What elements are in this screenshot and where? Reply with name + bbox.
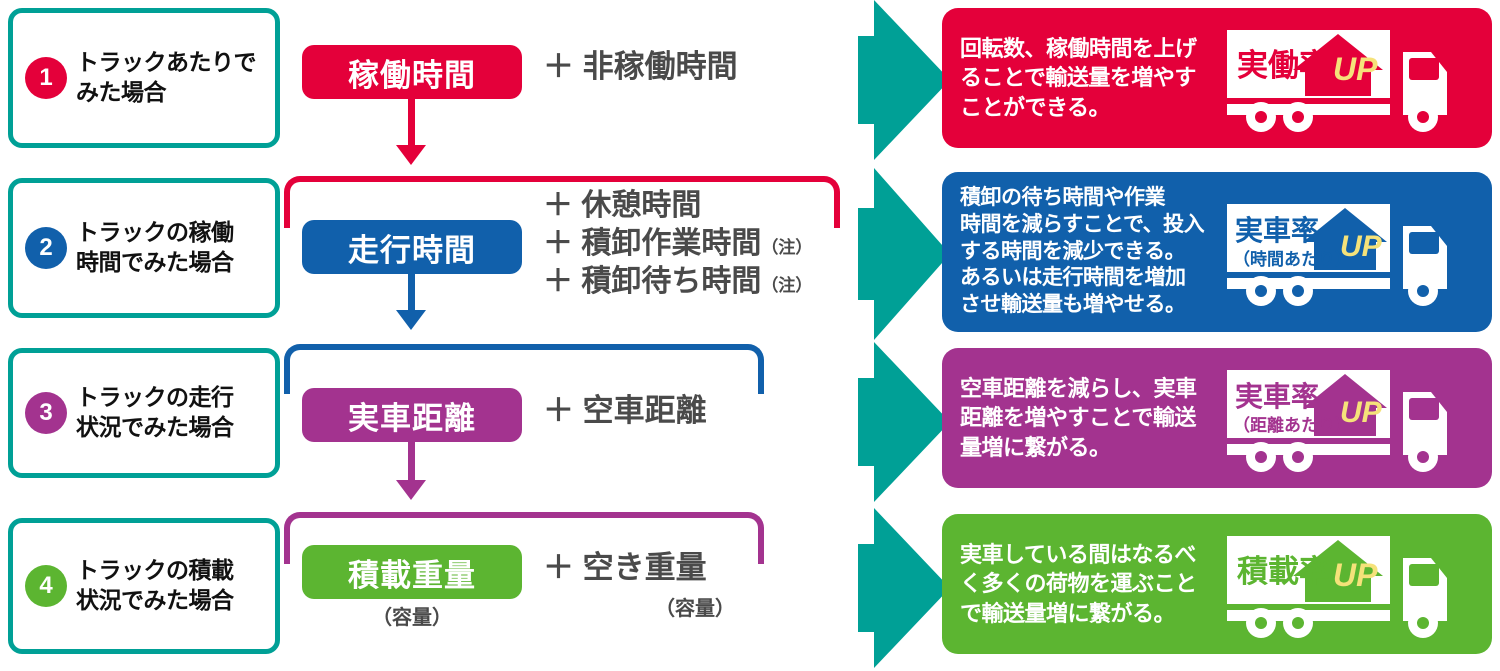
- addend-line-2-3: ＋ 積卸待ち時間（注）: [543, 263, 812, 301]
- row-number-badge-1: 1: [25, 57, 67, 99]
- addends-4: ＋ 空き重量: [543, 549, 707, 588]
- chevron-arrow-2: [858, 168, 950, 340]
- term-pill-label-2: 走行時間: [348, 225, 476, 270]
- row-number-2: 2: [39, 236, 52, 260]
- truck-badge-1: 実働率 UP: [1225, 24, 1480, 132]
- truck-badge-title-4: 積載率: [1237, 554, 1330, 589]
- addend-text-2-1: ＋ 休憩時間: [543, 189, 701, 222]
- label-text-1: トラックあたりで みた場合: [76, 48, 256, 108]
- addend-line-4-1: ＋ 空き重量: [543, 549, 707, 588]
- group-bracket-blue: [284, 344, 764, 394]
- term-pill-1: 稼働時間: [302, 45, 522, 99]
- chevron-arrow-4: [858, 508, 950, 668]
- label-box-4: 4 トラックの積載 状況でみた場合: [8, 518, 280, 654]
- row-number-badge-4: 4: [25, 565, 67, 607]
- addend-line-1-1: ＋ 非稼働時間: [543, 48, 738, 87]
- result-panel-text-1: 回転数、稼働時間を上げ ることで輸送量を増やす ことができる。: [960, 34, 1225, 121]
- result-panel-4: 実車している間はなるべ く多くの荷物を運ぶこと で輸送量増に繋がる。 積載率 U…: [942, 514, 1492, 654]
- truck-badge-title-3: 実車率: [1235, 380, 1319, 412]
- arrow-head-1: [396, 145, 426, 165]
- label-box-2: 2 トラックの稼働 時間でみた場合: [8, 178, 280, 318]
- arrow-head-2: [396, 310, 426, 330]
- term-pill-label-1: 稼働時間: [348, 50, 476, 95]
- label-text-3: トラックの走行 状況でみた場合: [76, 383, 234, 443]
- result-panel-2: 積卸の待ち時間や作業 時間を減らすことで、投入 する時間を減少できる。 あるいは…: [942, 172, 1492, 332]
- row-number-1: 1: [39, 66, 52, 90]
- label-box-3: 3 トラックの走行 状況でみた場合: [8, 348, 280, 478]
- truck-icon-1: 実働率 UP: [1225, 24, 1480, 132]
- truck-badge-title-2: 実車率: [1235, 214, 1319, 246]
- row-number-3: 3: [39, 401, 52, 425]
- chevron-arrow-1: [858, 0, 950, 160]
- addend-line-2-2: ＋ 積卸作業時間（注）: [543, 225, 812, 263]
- truck-badge-sub-2: （時間あたり）: [1233, 249, 1352, 269]
- addend-line-3-1: ＋ 空車距離: [543, 392, 707, 431]
- addend-note-2-3: （注）: [761, 276, 812, 295]
- truck-badge-up-3: UP: [1340, 396, 1383, 429]
- term-pill-label-4: 積載重量: [348, 550, 476, 595]
- addend-line-2-1: ＋ 休憩時間: [543, 187, 812, 225]
- truck-badge-up-4: UP: [1333, 557, 1378, 593]
- term-caption-4: （容量）: [372, 601, 452, 630]
- arrow-stem-1: [408, 99, 415, 151]
- label-text-4: トラックの積載 状況でみた場合: [76, 556, 234, 616]
- truck-icon-3: 実車率 （距離あたり） UP: [1225, 364, 1480, 472]
- truck-badge-title-1: 実働率: [1237, 48, 1330, 83]
- term-pill-label-3: 実車距離: [348, 393, 476, 438]
- arrow-head-3: [396, 480, 426, 500]
- addends-1: ＋ 非稼働時間: [543, 48, 738, 87]
- addend-text-2-3: ＋ 積卸待ち時間: [543, 265, 761, 298]
- result-panel-text-2: 積卸の待ち時間や作業 時間を減らすことで、投入 する時間を減少できる。 あるいは…: [960, 185, 1225, 318]
- result-panel-text-3: 空車距離を減らし、実車 距離を増やすことで輸送 量増に繋がる。: [960, 374, 1225, 461]
- truck-badge-2: 実車率 （時間あたり） UP: [1225, 198, 1480, 306]
- row-number-4: 4: [39, 574, 52, 598]
- chevron-arrow-3: [858, 342, 950, 502]
- truck-badge-4: 積載率 UP: [1225, 530, 1480, 638]
- result-panel-3: 空車距離を減らし、実車 距離を増やすことで輸送 量増に繋がる。 実車率 （距離あ…: [942, 348, 1492, 488]
- truck-badge-sub-3: （距離あたり）: [1233, 415, 1352, 435]
- truck-icon-2: 実車率 （時間あたり） UP: [1225, 198, 1480, 306]
- addends-2: ＋ 休憩時間 ＋ 積卸作業時間（注） ＋ 積卸待ち時間（注）: [543, 187, 812, 301]
- addend-note-2-2: （注）: [761, 238, 812, 257]
- row-number-badge-2: 2: [25, 227, 67, 269]
- label-box-1: 1 トラックあたりで みた場合: [8, 8, 280, 148]
- row-number-badge-3: 3: [25, 392, 67, 434]
- term-pill-4: 積載重量: [302, 545, 522, 599]
- diagram-root: 1 トラックあたりで みた場合 稼働時間 ＋ 非稼働時間 2 トラックの稼働 時…: [0, 0, 1500, 671]
- result-panel-text-4: 実車している間はなるべ く多くの荷物を運ぶこと で輸送量増に繋がる。: [960, 540, 1225, 627]
- truck-badge-3: 実車率 （距離あたり） UP: [1225, 364, 1480, 472]
- truck-badge-up-1: UP: [1333, 51, 1378, 87]
- term-pill-3: 実車距離: [302, 388, 522, 442]
- truck-icon-4: 積載率 UP: [1225, 530, 1480, 638]
- result-panel-1: 回転数、稼働時間を上げ ることで輸送量を増やす ことができる。 実働率 UP: [942, 8, 1492, 148]
- term-pill-2: 走行時間: [302, 220, 522, 274]
- addend-text-2-2: ＋ 積卸作業時間: [543, 227, 761, 260]
- truck-badge-up-2: UP: [1340, 230, 1383, 263]
- label-text-2: トラックの稼働 時間でみた場合: [76, 218, 234, 278]
- addends-3: ＋ 空車距離: [543, 392, 707, 431]
- addend-caption-4: （容量）: [655, 592, 735, 621]
